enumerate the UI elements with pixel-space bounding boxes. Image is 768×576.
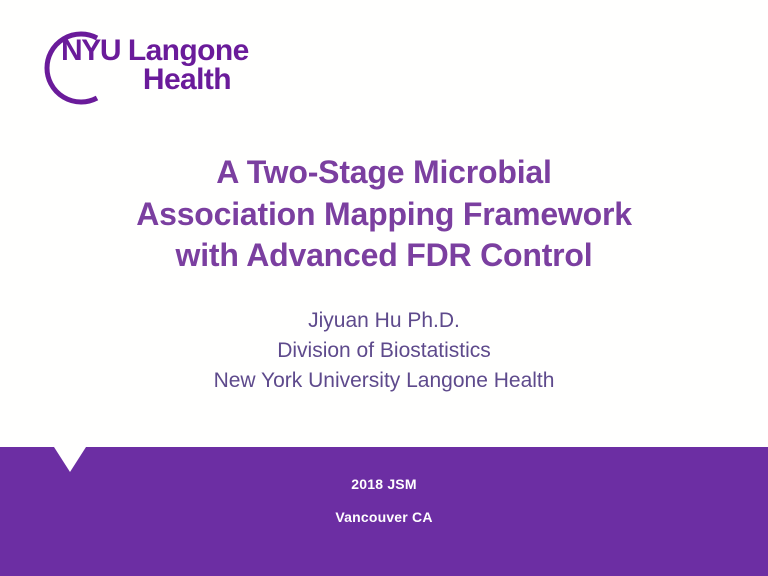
logo-langone-text: Langone [120, 34, 249, 67]
page-title: A Two-Stage Microbial Association Mappin… [0, 152, 768, 277]
title-line-3: with Advanced FDR Control [0, 235, 768, 277]
footer-band: 2018 JSM Vancouver CA [0, 447, 768, 576]
title-line-2: Association Mapping Framework [0, 194, 768, 236]
footer-location: Vancouver CA [0, 501, 768, 534]
author-institution: New York University Langone Health [0, 366, 768, 396]
logo-line-one: NYU Langone [61, 36, 241, 65]
title-slide: NYU Langone Health A Two-Stage Microbial… [0, 0, 768, 576]
footer-event: 2018 JSM [0, 468, 768, 501]
author-affiliation-block: Jiyuan Hu Ph.D. Division of Biostatistic… [0, 306, 768, 395]
logo-nyu-text: NYU [61, 34, 120, 67]
nyu-langone-health-logo: NYU Langone Health [28, 24, 238, 112]
author-division: Division of Biostatistics [0, 336, 768, 366]
author-name: Jiyuan Hu Ph.D. [0, 306, 768, 336]
footer-text-block: 2018 JSM Vancouver CA [0, 468, 768, 534]
logo-health-text: Health [61, 65, 241, 94]
title-line-1: A Two-Stage Microbial [0, 152, 768, 194]
logo-wordmark: NYU Langone Health [61, 36, 241, 94]
